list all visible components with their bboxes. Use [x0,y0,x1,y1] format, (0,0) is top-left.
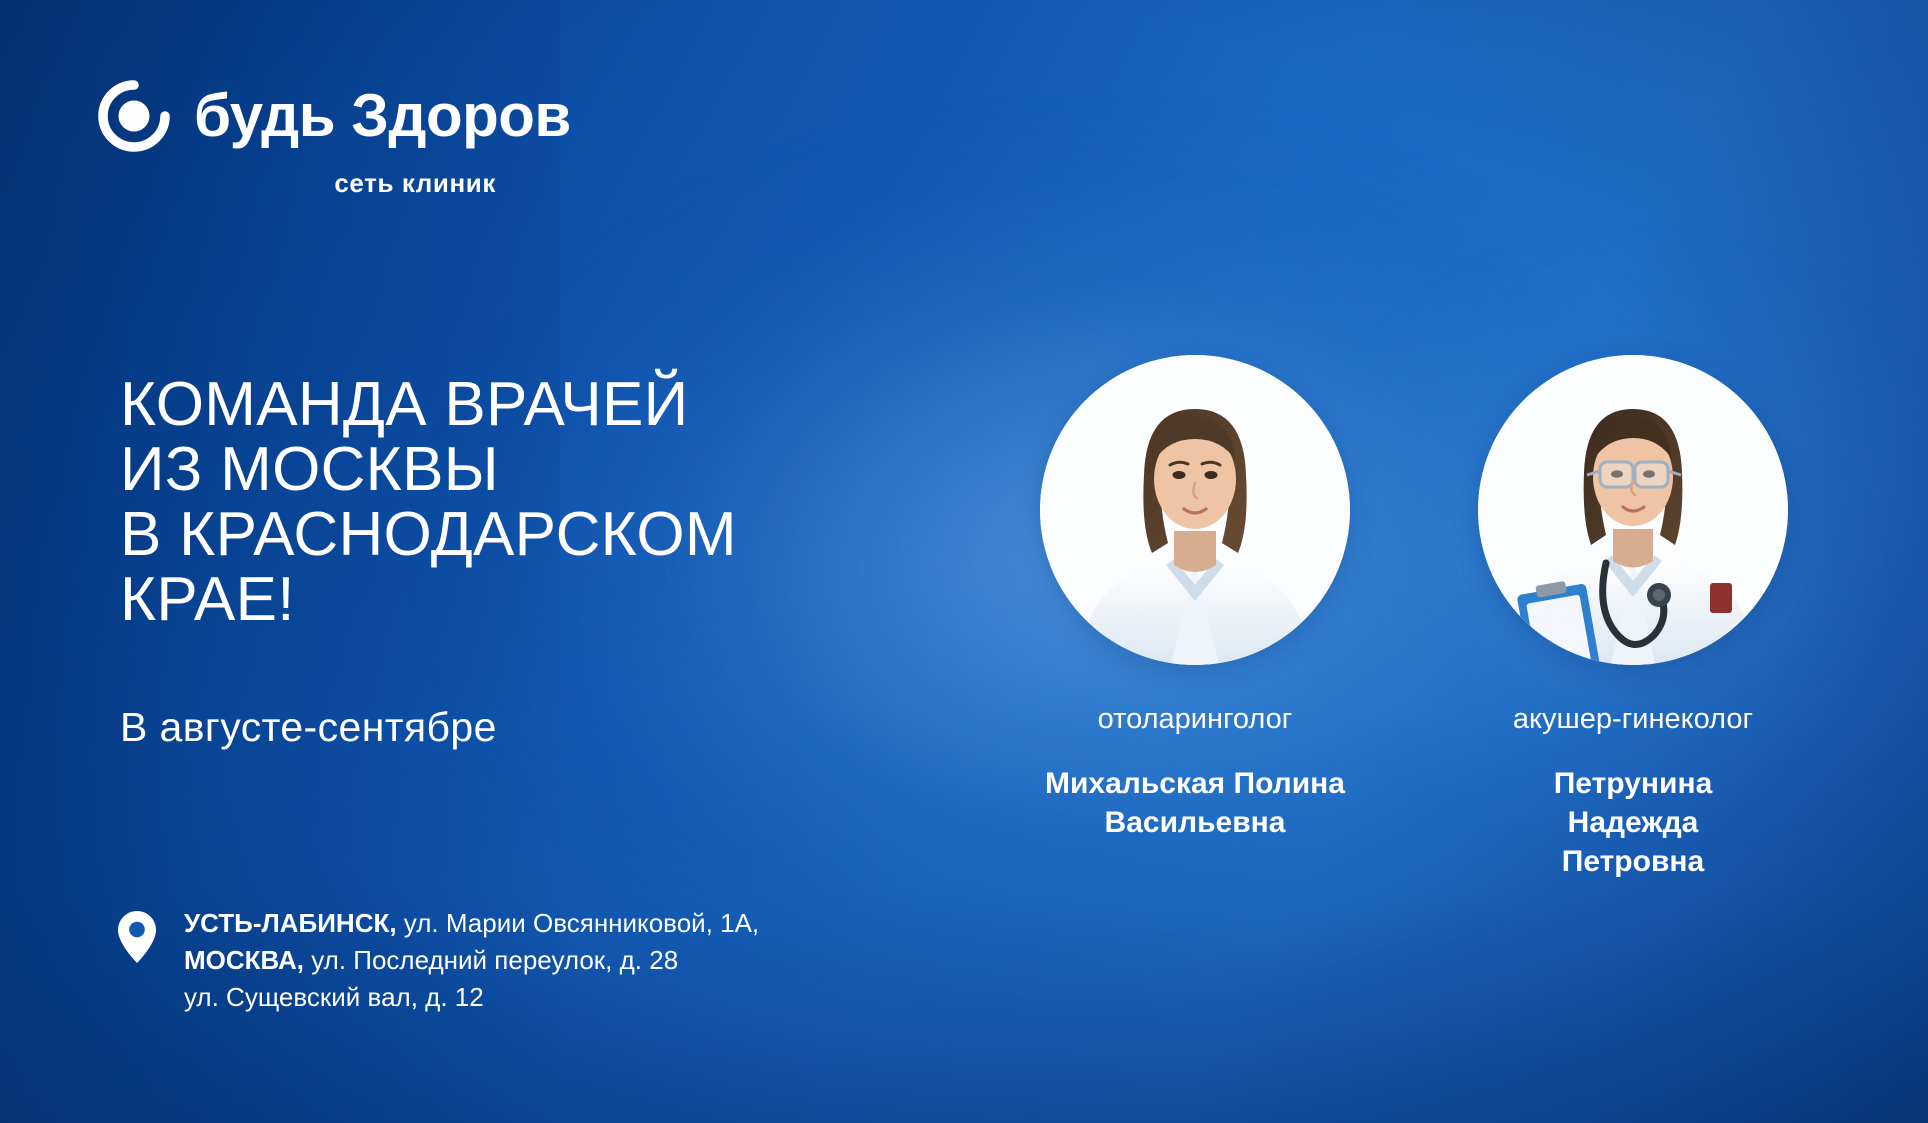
doctor-name-line-2: Надежда [1568,806,1699,839]
brand-name: будь Здоров [194,86,571,146]
address-city: УСТЬ-ЛАБИНСК, [184,908,397,938]
address-street: ул. Последний переулок, д. 28 [304,945,678,975]
brand-logo[interactable]: будь Здоров сеть клиник [96,78,516,196]
address-line: МОСКВА, ул. Последний переулок, д. 28 [184,942,759,979]
headline-line-2: ИЗ МОСКВЫ [120,437,940,502]
headline: КОМАНДА ВРАЧЕЙ ИЗ МОСКВЫ В КРАСНОДАРСКОМ… [120,372,940,632]
headline-line-1: КОМАНДА ВРАЧЕЙ [120,372,940,437]
doctor-card: отоларинголог Михальская Полина Васильев… [1040,355,1350,842]
doctor-name: Петрунина Надежда Петровна [1554,764,1713,881]
address-street: ул. Сущевский вал, д. 12 [184,982,484,1012]
address-line: УСТЬ-ЛАБИНСК, ул. Марии Овсянниковой, 1А… [184,905,759,942]
address-block: УСТЬ-ЛАБИНСК, ул. Марии Овсянниковой, 1А… [118,905,759,1016]
doctor-name-line-1: Михальская Полина [1045,767,1345,800]
address-street: ул. Марии Овсянниковой, 1А, [397,908,760,938]
doctor-specialty: отоларинголог [1098,703,1293,736]
doctor-specialty: акушер-гинеколог [1513,703,1753,736]
doctor-portrait-1 [1040,355,1350,665]
doctor-name-line-3: Петровна [1562,845,1704,878]
headline-line-3: В КРАСНОДАРСКОМ [120,502,940,567]
circle-orbit-logo-icon [96,78,172,154]
doctor-name-line-2: Васильевна [1105,806,1286,839]
doctor-card: акушер-гинеколог Петрунина Надежда Петро… [1478,355,1788,881]
promo-banner: будь Здоров сеть клиник КОМАНДА ВРАЧЕЙ И… [0,0,1928,1123]
address-city: МОСКВА, [184,945,304,975]
location-pin-icon [118,911,156,963]
headline-subtitle: В августе-сентябре [120,705,497,750]
doctor-portrait-2 [1478,355,1788,665]
brand-tagline: сеть клиник [96,170,496,196]
doctor-name-line-1: Петрунина [1554,767,1713,800]
doctor-list: отоларинголог Михальская Полина Васильев… [1040,355,1820,881]
headline-line-4: КРАЕ! [120,567,940,632]
address-line: ул. Сущевский вал, д. 12 [184,979,759,1016]
doctor-name: Михальская Полина Васильевна [1045,764,1345,842]
